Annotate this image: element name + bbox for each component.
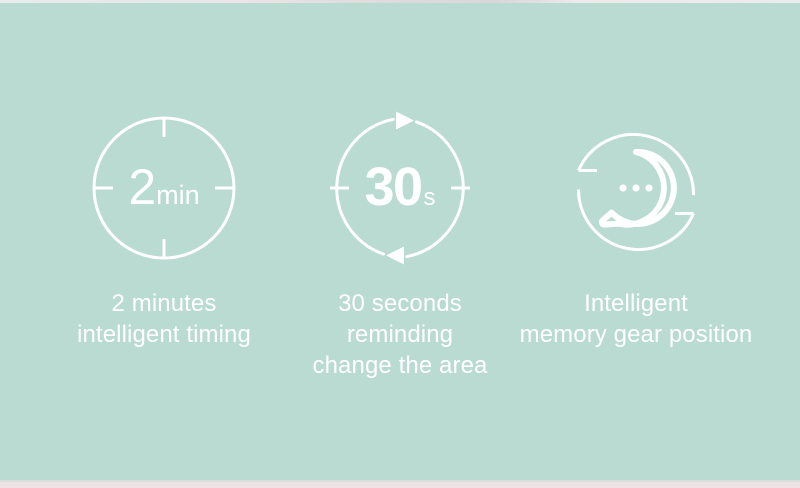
feature-caption-reminder: 30 seconds reminding change the area <box>313 288 488 381</box>
feature-card-list: 2 min 2 minutes intelligent timing <box>0 3 800 381</box>
clock-dial-icon: 2 min <box>84 108 244 268</box>
bottom-edge-strip <box>0 480 800 488</box>
feature-caption-memory: Intelligent memory gear position <box>491 288 781 350</box>
feature-card-timing: 2 min 2 minutes intelligent timing <box>39 108 289 350</box>
feature-caption-timing: 2 minutes intelligent timing <box>77 288 251 350</box>
feature-banner: 2 min 2 minutes intelligent timing <box>0 3 800 480</box>
feature-card-memory: Intelligent memory gear position <box>511 108 761 350</box>
feature-card-reminder: 30 s 30 seconds reminding change the are… <box>275 108 525 381</box>
speech-bubble-memory-icon <box>556 108 716 268</box>
cycle-arrows-dial-icon: 30 s <box>320 108 480 268</box>
